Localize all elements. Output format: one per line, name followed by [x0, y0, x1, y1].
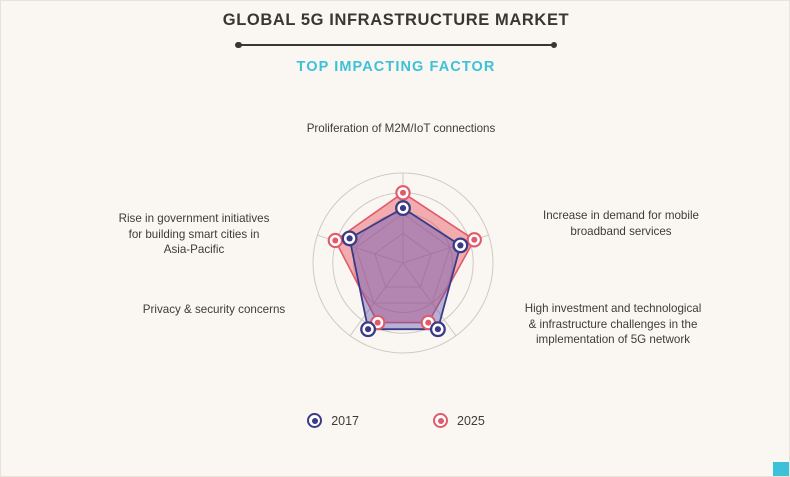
data-point-2025-0 — [396, 186, 409, 199]
infographic-page: GLOBAL 5G INFRASTRUCTURE MARKET TOP IMPA… — [0, 0, 790, 477]
axis-label-privacy-security: Privacy & security concerns — [117, 302, 311, 318]
axis-label-mobile-broadband-line1: Increase in demand for mobile — [517, 208, 725, 224]
axis-label-m2m-iot: Proliferation of M2M/IoT connections — [273, 121, 529, 137]
circle-marker-icon — [433, 413, 448, 428]
chart-legend: 2017 2025 — [1, 413, 790, 428]
axis-label-mobile-broadband: Increase in demand for mobile broadband … — [517, 208, 725, 239]
circle-marker-icon — [307, 413, 322, 428]
data-point-2025-4 — [329, 234, 342, 247]
legend-label-2025: 2025 — [457, 414, 485, 428]
legend-item-2025[interactable]: 2025 — [433, 413, 485, 428]
axis-label-government-initiatives-line1: Rise in government initiatives — [91, 211, 297, 227]
axis-label-high-investment-line1: High investment and technological — [505, 301, 721, 317]
axis-label-government-initiatives-line3: Asia-Pacific — [91, 242, 297, 258]
data-point-2017-3 — [361, 322, 375, 336]
radar-chart: Proliferation of M2M/IoT connections Inc… — [1, 1, 790, 477]
data-point-2017-2 — [431, 322, 445, 336]
data-point-2017-0 — [396, 201, 410, 215]
corner-accent — [773, 462, 789, 476]
data-point-2017-1 — [454, 239, 468, 253]
data-point-2025-1 — [468, 233, 481, 246]
data-point-2017-4 — [343, 232, 357, 246]
legend-label-2017: 2017 — [331, 414, 359, 428]
axis-label-mobile-broadband-line2: broadband services — [517, 224, 725, 240]
axis-label-high-investment-line2: & infrastructure challenges in the — [505, 317, 721, 333]
axis-label-government-initiatives-line2: for building smart cities in — [91, 227, 297, 243]
axis-label-government-initiatives: Rise in government initiatives for build… — [91, 211, 297, 258]
axis-label-high-investment: High investment and technological & infr… — [505, 301, 721, 348]
axis-label-high-investment-line3: implementation of 5G network — [505, 332, 721, 348]
legend-item-2017[interactable]: 2017 — [307, 413, 359, 428]
